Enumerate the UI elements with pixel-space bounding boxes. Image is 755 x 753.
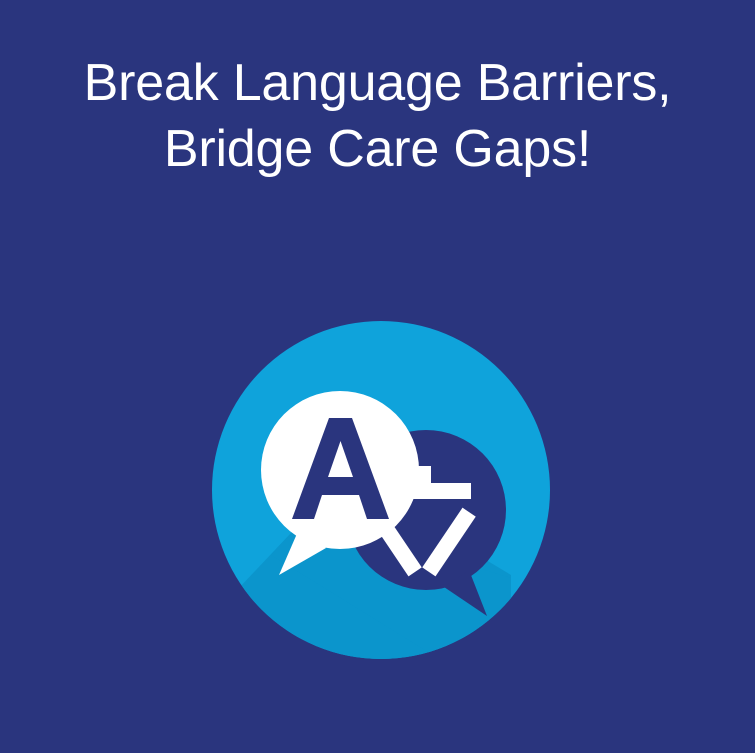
- headline-line-2: Bridge Care Gaps!: [0, 116, 755, 182]
- page-title: Break Language Barriers, Bridge Care Gap…: [0, 50, 755, 182]
- translation-icon: [211, 320, 551, 660]
- headline-line-1: Break Language Barriers,: [0, 50, 755, 116]
- promo-banner: Break Language Barriers, Bridge Care Gap…: [0, 0, 755, 753]
